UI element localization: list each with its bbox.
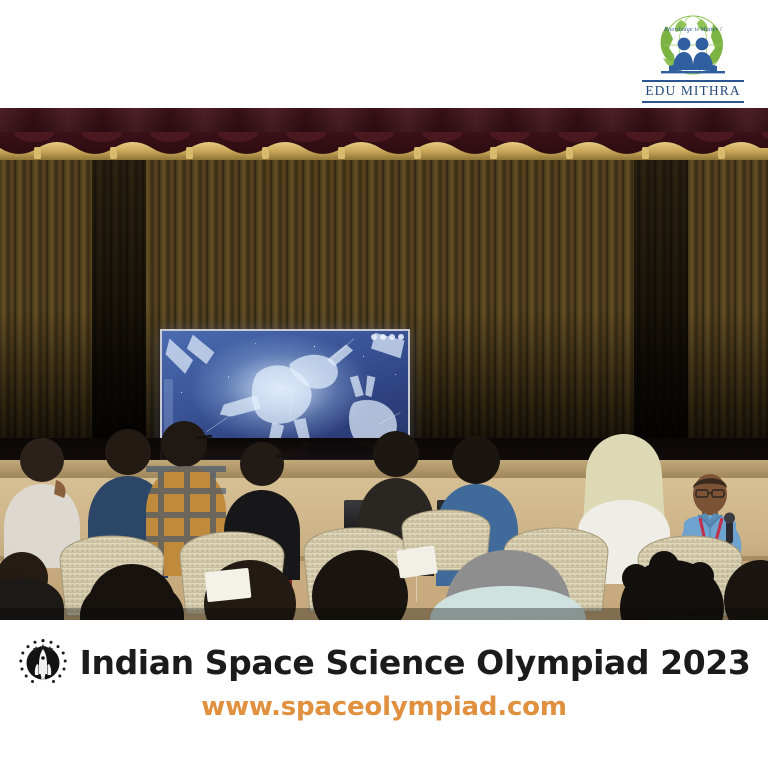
globe-icon: Knowledge is Matter ! bbox=[643, 14, 743, 76]
logo-rule-top bbox=[642, 80, 744, 82]
edu-mithra-logo: Knowledge is Matter ! EDU MITHRA bbox=[634, 8, 752, 103]
event-photo bbox=[0, 108, 768, 620]
audience-crowd bbox=[0, 108, 768, 620]
logo-rule-bottom bbox=[642, 101, 744, 103]
rocket-emblem-icon bbox=[18, 638, 68, 688]
logo-brand-name: EDU MITHRA bbox=[634, 83, 752, 99]
footer-band: Indian Space Science Olympiad 2023 www.s… bbox=[0, 620, 768, 768]
header-band: Knowledge is Matter ! EDU MITHRA bbox=[0, 0, 768, 108]
page-title: Indian Space Science Olympiad 2023 bbox=[80, 644, 751, 682]
footer-title-row: Indian Space Science Olympiad 2023 bbox=[0, 638, 768, 688]
poster: Knowledge is Matter ! EDU MITHRA bbox=[0, 0, 768, 768]
website-url[interactable]: www.spaceolympiad.com bbox=[0, 692, 768, 722]
